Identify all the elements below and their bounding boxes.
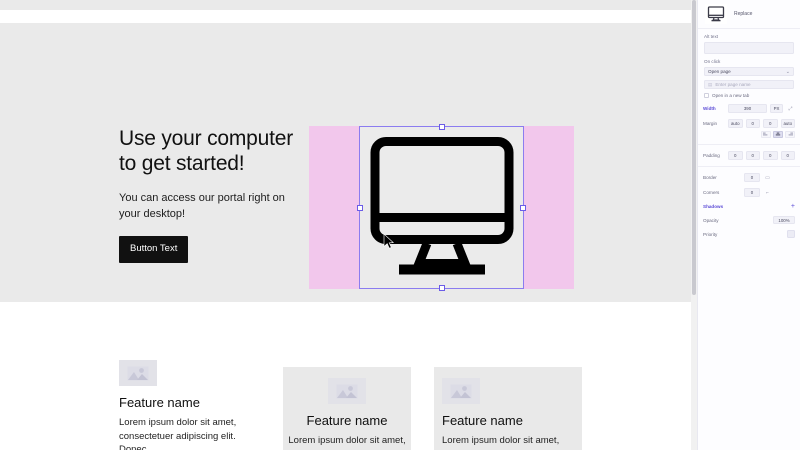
margin-left-input[interactable]: auto <box>781 119 796 128</box>
shadows-row: Shadows + <box>698 203 800 210</box>
margin-row: Margin auto 0 0 auto <box>698 119 800 128</box>
feature-title[interactable]: Feature name <box>283 413 411 428</box>
alt-text-label: Alt text <box>698 34 800 39</box>
border-style-icon[interactable]: ▭ <box>763 173 772 182</box>
page-name-placeholder: Enter page name <box>715 82 750 87</box>
chevron-down-icon: ⌄ <box>786 69 790 75</box>
feature-title[interactable]: Feature name <box>442 413 582 428</box>
align-right-icon[interactable] <box>785 131 795 138</box>
corners-input[interactable]: 0 <box>744 188 760 197</box>
padding-left-input[interactable]: 0 <box>781 151 796 160</box>
opacity-row: Opacity 100% <box>698 216 800 224</box>
padding-label: Padding <box>703 153 725 158</box>
toggle-square-icon[interactable] <box>787 230 795 238</box>
corner-radius-icon[interactable]: ⌐ <box>763 188 772 197</box>
divider <box>698 144 800 145</box>
padding-right-input[interactable]: 0 <box>746 151 761 160</box>
opacity-label: Opacity <box>703 218 725 223</box>
site-preview: Use your computer to get started! You ca… <box>0 0 691 450</box>
margin-bottom-input[interactable]: 0 <box>763 119 778 128</box>
features-section: Feature name Lorem ipsum dolor sit amet,… <box>0 302 691 450</box>
inspector-panel: Replace Alt text On click Open page ⌄ ▤ … <box>697 0 800 450</box>
hero-cta-button[interactable]: Button Text <box>119 236 188 263</box>
editor-root: Use your computer to get started! You ca… <box>0 0 800 450</box>
resize-handle-left[interactable] <box>357 205 363 211</box>
feature-card[interactable]: Feature name Lorem ipsum dolor sit amet,… <box>283 367 411 450</box>
hero-inner: Use your computer to get started! You ca… <box>119 121 579 296</box>
hero-section[interactable]: Use your computer to get started! You ca… <box>0 23 691 302</box>
monitor-thumbnail-icon[interactable] <box>705 4 727 24</box>
canvas-scrollbar-thumb[interactable] <box>692 0 696 295</box>
opacity-input[interactable]: 100% <box>773 216 795 224</box>
margin-top-input[interactable]: auto <box>728 119 743 128</box>
align-center-icon[interactable] <box>773 131 783 138</box>
feature-card[interactable]: Feature name Lorem ipsum dolor sit amet,… <box>434 367 582 450</box>
page-icon: ▤ <box>708 82 712 88</box>
width-input[interactable]: 390 <box>728 104 767 113</box>
width-label: Width <box>703 106 725 111</box>
feature-body[interactable]: Lorem ipsum dolor sit amet, consectetuer… <box>119 416 247 450</box>
feature-title[interactable]: Feature name <box>119 395 269 410</box>
hero-title[interactable]: Use your computer to get started! <box>119 126 299 176</box>
padding-row: Padding 0 0 0 0 <box>698 151 800 160</box>
margin-label: Margin <box>703 121 725 126</box>
on-click-label: On click <box>698 59 800 64</box>
feature-card[interactable]: Feature name Lorem ipsum dolor sit amet,… <box>119 360 269 450</box>
align-segmented-control <box>698 131 800 138</box>
replace-image-button[interactable]: Replace <box>734 11 752 17</box>
reset-icon[interactable]: ⤢ <box>786 104 795 113</box>
padding-top-input[interactable]: 0 <box>728 151 743 160</box>
border-label: Border <box>703 175 725 180</box>
width-row: Width 390 PX ⤢ <box>698 104 800 113</box>
image-placeholder-icon <box>328 378 366 404</box>
margin-right-input[interactable]: 0 <box>746 119 761 128</box>
width-unit-select[interactable]: PX <box>770 104 783 113</box>
alt-text-input[interactable] <box>704 42 794 54</box>
align-left-icon[interactable] <box>761 131 771 138</box>
selected-image-frame[interactable] <box>359 126 524 289</box>
checkbox-icon[interactable] <box>704 93 709 98</box>
hero-text-column: Use your computer to get started! You ca… <box>119 126 299 263</box>
image-thumbnail-row: Replace <box>698 0 800 28</box>
priority-row: Priority <box>698 230 800 238</box>
padding-bottom-input[interactable]: 0 <box>763 151 778 160</box>
corners-label: Corners <box>703 190 725 195</box>
resize-handle-top[interactable] <box>439 124 445 130</box>
page-name-input[interactable]: ▤ Enter page name <box>704 80 794 89</box>
resize-handle-right[interactable] <box>520 205 526 211</box>
divider <box>698 166 800 167</box>
border-row: Border 0 ▭ <box>698 173 800 182</box>
new-tab-label: Open in a new tab <box>712 93 749 98</box>
hero-subtitle[interactable]: You can access our portal right on your … <box>119 191 299 222</box>
plus-icon[interactable]: + <box>791 203 795 210</box>
resize-handle-bottom[interactable] <box>439 285 445 291</box>
image-placeholder-icon <box>442 378 480 404</box>
hero-image-block[interactable] <box>309 126 574 289</box>
shadows-label: Shadows <box>703 204 725 209</box>
canvas-area[interactable]: Use your computer to get started! You ca… <box>0 0 697 450</box>
divider <box>698 28 800 29</box>
image-placeholder-icon <box>119 360 157 386</box>
site-navbar[interactable] <box>0 10 691 23</box>
border-input[interactable]: 0 <box>744 173 760 182</box>
new-tab-checkbox-row[interactable]: Open in a new tab <box>698 93 800 98</box>
feature-body[interactable]: Lorem ipsum dolor sit amet, consectetuer… <box>288 434 406 450</box>
feature-body[interactable]: Lorem ipsum dolor sit amet, consectetuer… <box>442 434 572 450</box>
on-click-select[interactable]: Open page ⌄ <box>704 67 794 76</box>
corners-row: Corners 0 ⌐ <box>698 188 800 197</box>
on-click-selected-value: Open page <box>708 69 731 74</box>
priority-label: Priority <box>703 232 725 237</box>
desktop-monitor-icon <box>367 135 517 280</box>
